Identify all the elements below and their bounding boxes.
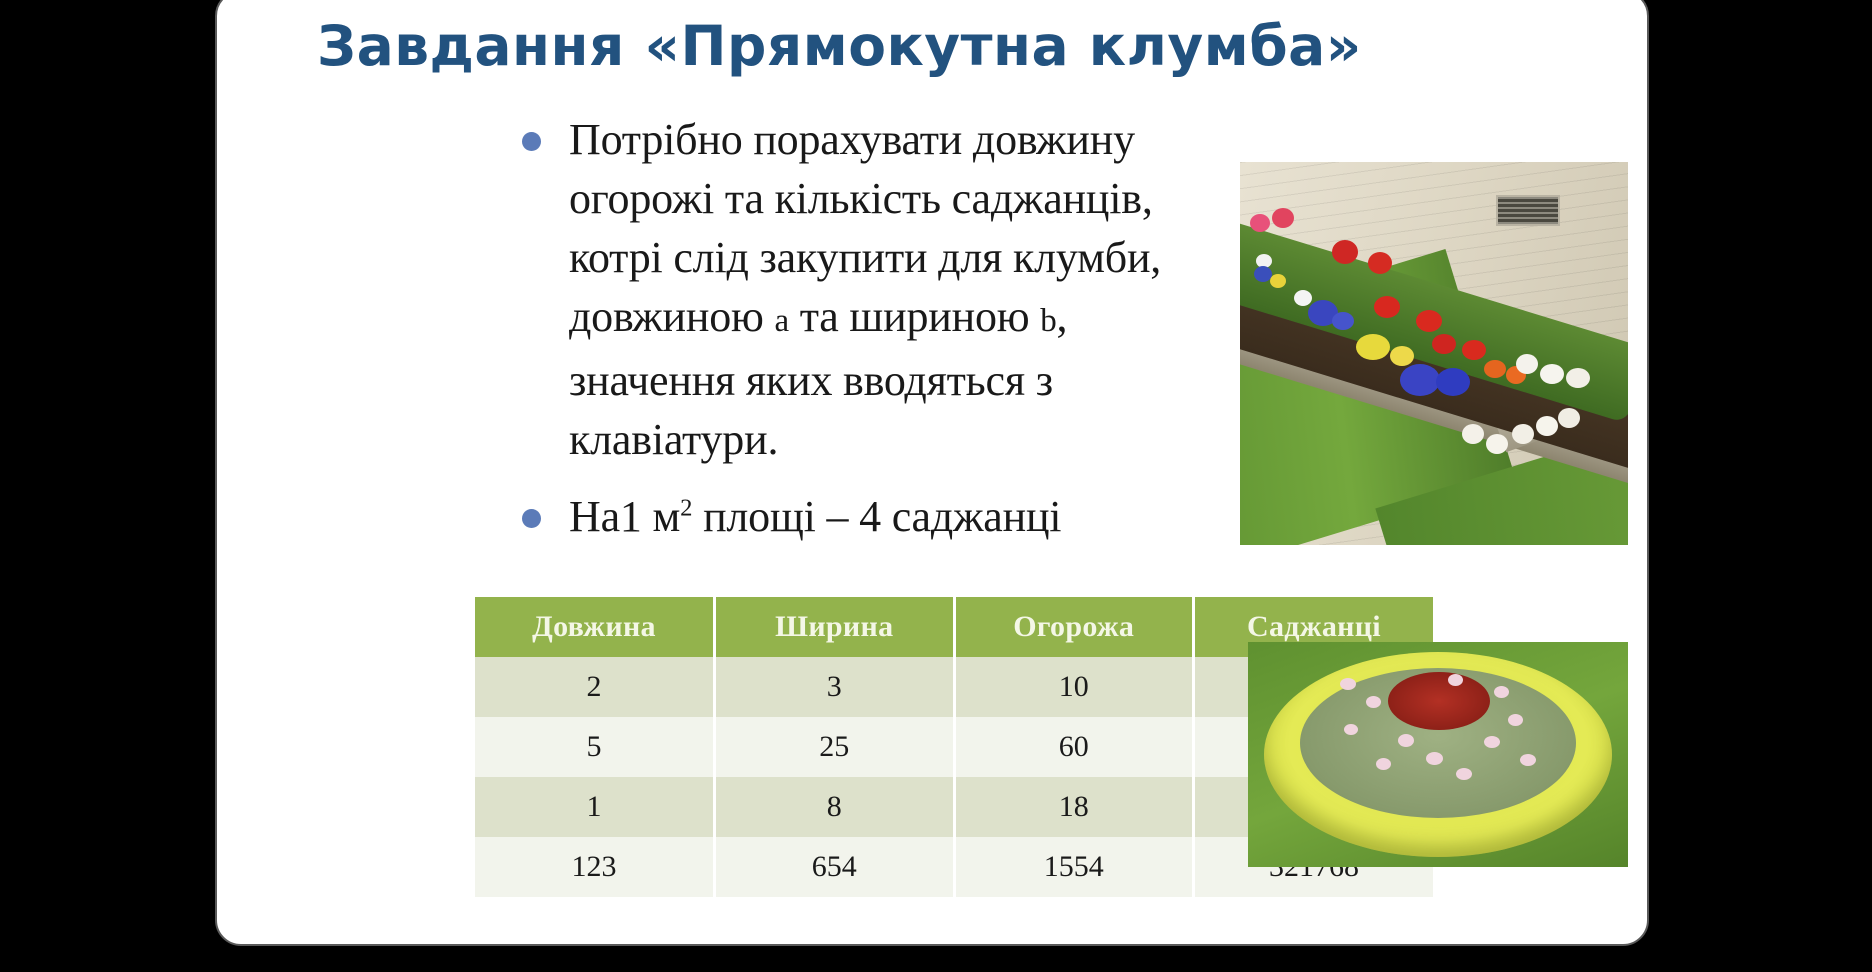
pink-flower — [1494, 686, 1509, 698]
flower — [1540, 364, 1564, 384]
cell-fence: 60 — [954, 717, 1194, 777]
pink-flower — [1508, 714, 1523, 726]
flower — [1250, 214, 1270, 232]
flower — [1390, 346, 1414, 366]
presentation-slide: Завдання «Прямокутна клумба» Потрібно по… — [215, 0, 1649, 946]
bullet-list: Потрібно порахувати довжину огорожі та к… — [569, 110, 1259, 546]
column-header-fence: Огорожа — [954, 597, 1194, 657]
task-line-6: клавіатури. — [569, 415, 778, 464]
cell-width: 654 — [715, 837, 955, 897]
flower — [1400, 364, 1440, 396]
pink-flower — [1484, 736, 1500, 748]
flower — [1566, 368, 1590, 388]
task-description-text: Потрібно порахувати довжину огорожі та к… — [569, 110, 1259, 469]
task-line-4-prefix: довжиною — [569, 292, 774, 341]
task-line-1: Потрібно порахувати довжину — [569, 115, 1135, 164]
page-title: Завдання «Прямокутна клумба» — [317, 14, 1557, 78]
task-line-4-middle: та шириною — [789, 292, 1040, 341]
task-line-3: котрі слід закупити для клумби, — [569, 233, 1161, 282]
flower — [1558, 408, 1580, 428]
flower — [1270, 274, 1286, 288]
bullet-dot-icon — [522, 132, 541, 151]
column-header-width: Ширина — [715, 597, 955, 657]
flower — [1512, 424, 1534, 444]
flower — [1516, 354, 1538, 374]
flower — [1432, 334, 1456, 354]
density-prefix: На1 м — [569, 492, 680, 541]
flower — [1332, 312, 1354, 330]
red-center — [1388, 672, 1490, 730]
cell-width: 8 — [715, 777, 955, 837]
wall-vent — [1496, 195, 1560, 226]
flower — [1356, 334, 1390, 360]
flower — [1294, 290, 1312, 306]
flower — [1368, 252, 1392, 274]
pink-flower — [1448, 674, 1463, 686]
bullet-dot-icon — [522, 509, 541, 528]
square-superscript: 2 — [680, 494, 692, 521]
cell-length: 1 — [475, 777, 715, 837]
pink-flower — [1340, 678, 1356, 690]
screen-letterbox: Завдання «Прямокутна клумба» Потрібно по… — [0, 0, 1872, 972]
variable-b: b — [1040, 303, 1056, 339]
task-line-5: значення яких вводяться з — [569, 356, 1053, 405]
pink-flower — [1344, 724, 1358, 735]
pink-flower — [1426, 752, 1443, 765]
pink-flower — [1520, 754, 1536, 766]
variable-a: a — [774, 303, 788, 339]
density-rule-text: На1 м2 площі – 4 саджанці — [569, 487, 1259, 546]
cell-fence: 1554 — [954, 837, 1194, 897]
flower — [1486, 434, 1508, 454]
round-flower-bed-photo — [1248, 642, 1628, 867]
flower — [1462, 340, 1486, 360]
pink-flower — [1398, 734, 1414, 747]
flower — [1374, 296, 1400, 318]
list-item: На1 м2 площі – 4 саджанці — [569, 487, 1259, 546]
flower — [1462, 424, 1484, 444]
column-header-length: Довжина — [475, 597, 715, 657]
pink-flower — [1366, 696, 1381, 708]
flower — [1416, 310, 1442, 332]
density-suffix: площі – 4 саджанці — [692, 492, 1061, 541]
pink-flower — [1376, 758, 1391, 770]
rectangular-flower-bed-photo — [1240, 162, 1628, 545]
flower — [1272, 208, 1294, 228]
task-line-2: огорожі та кількість саджанців, — [569, 174, 1153, 223]
flower — [1536, 416, 1558, 436]
flower — [1332, 240, 1358, 264]
cell-length: 123 — [475, 837, 715, 897]
cell-width: 3 — [715, 657, 955, 717]
cell-length: 2 — [475, 657, 715, 717]
flower — [1436, 368, 1470, 396]
cell-width: 25 — [715, 717, 955, 777]
task-line-4-suffix: , — [1057, 292, 1068, 341]
list-item: Потрібно порахувати довжину огорожі та к… — [569, 110, 1259, 469]
cell-fence: 10 — [954, 657, 1194, 717]
flower — [1484, 360, 1506, 378]
pink-flower — [1456, 768, 1472, 780]
cell-fence: 18 — [954, 777, 1194, 837]
cell-length: 5 — [475, 717, 715, 777]
